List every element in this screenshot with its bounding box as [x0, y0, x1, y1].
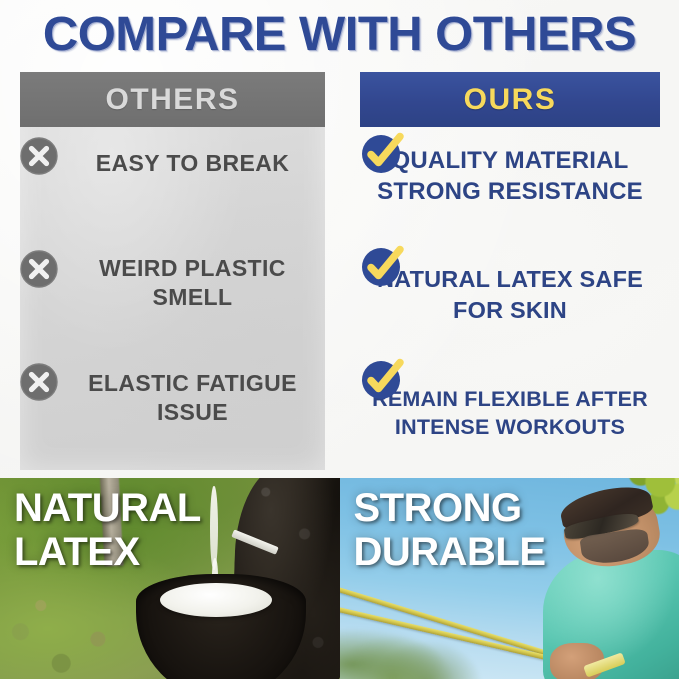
photo-label: STRONG DURABLE: [354, 486, 546, 574]
x-circle-icon: [20, 363, 58, 401]
list-item: ELASTIC FATIGUE ISSUE: [20, 353, 325, 466]
comparison-section: OTHERS EASY TO BREAK: [0, 72, 679, 472]
others-column-header: OTHERS: [20, 72, 325, 127]
list-item: WEIRD PLASTIC SMELL: [20, 240, 325, 353]
page-title: COMPARE WITH OTHERS: [0, 8, 679, 62]
check-circle-icon: [360, 131, 408, 175]
others-column: OTHERS EASY TO BREAK: [20, 72, 325, 470]
natural-latex-photo: NATURAL LATEX: [0, 478, 340, 679]
photo-label: NATURAL LATEX: [14, 486, 201, 574]
x-circle-icon: [20, 250, 58, 288]
check-circle-icon: [360, 357, 408, 401]
others-row-list: EASY TO BREAK WEIRD PLASTIC SMELL: [20, 127, 325, 466]
photo-strip: NATURAL LATEX STRONG DURABLE: [0, 478, 679, 679]
background-trees: [340, 611, 489, 679]
ours-column-header: OURS: [360, 72, 660, 127]
latex-liquid: [160, 583, 272, 617]
list-item: QUALITY MATERIAL STRONG RESISTANCE: [360, 127, 660, 240]
list-item-label: EASY TO BREAK: [20, 127, 325, 178]
list-item: EASY TO BREAK: [20, 127, 325, 240]
x-circle-icon: [20, 137, 58, 175]
check-circle-icon: [360, 244, 408, 288]
ours-column: OURS QUALITY MATERIAL STRONG RESISTANCE: [360, 72, 660, 470]
list-item: REMAIN FLEXIBLE AFTER INTENSE WORKOUTS: [360, 353, 660, 466]
product-comparison-infographic: COMPARE WITH OTHERS OTHERS EASY TO BREAK: [0, 0, 679, 679]
list-item-label: WEIRD PLASTIC SMELL: [20, 240, 325, 312]
ours-row-list: QUALITY MATERIAL STRONG RESISTANCE NATUR…: [360, 127, 660, 466]
list-item: NATURAL LATEX SAFE FOR SKIN: [360, 240, 660, 353]
list-item-label: ELASTIC FATIGUE ISSUE: [20, 353, 325, 427]
strong-durable-photo: STRONG DURABLE: [340, 478, 679, 679]
